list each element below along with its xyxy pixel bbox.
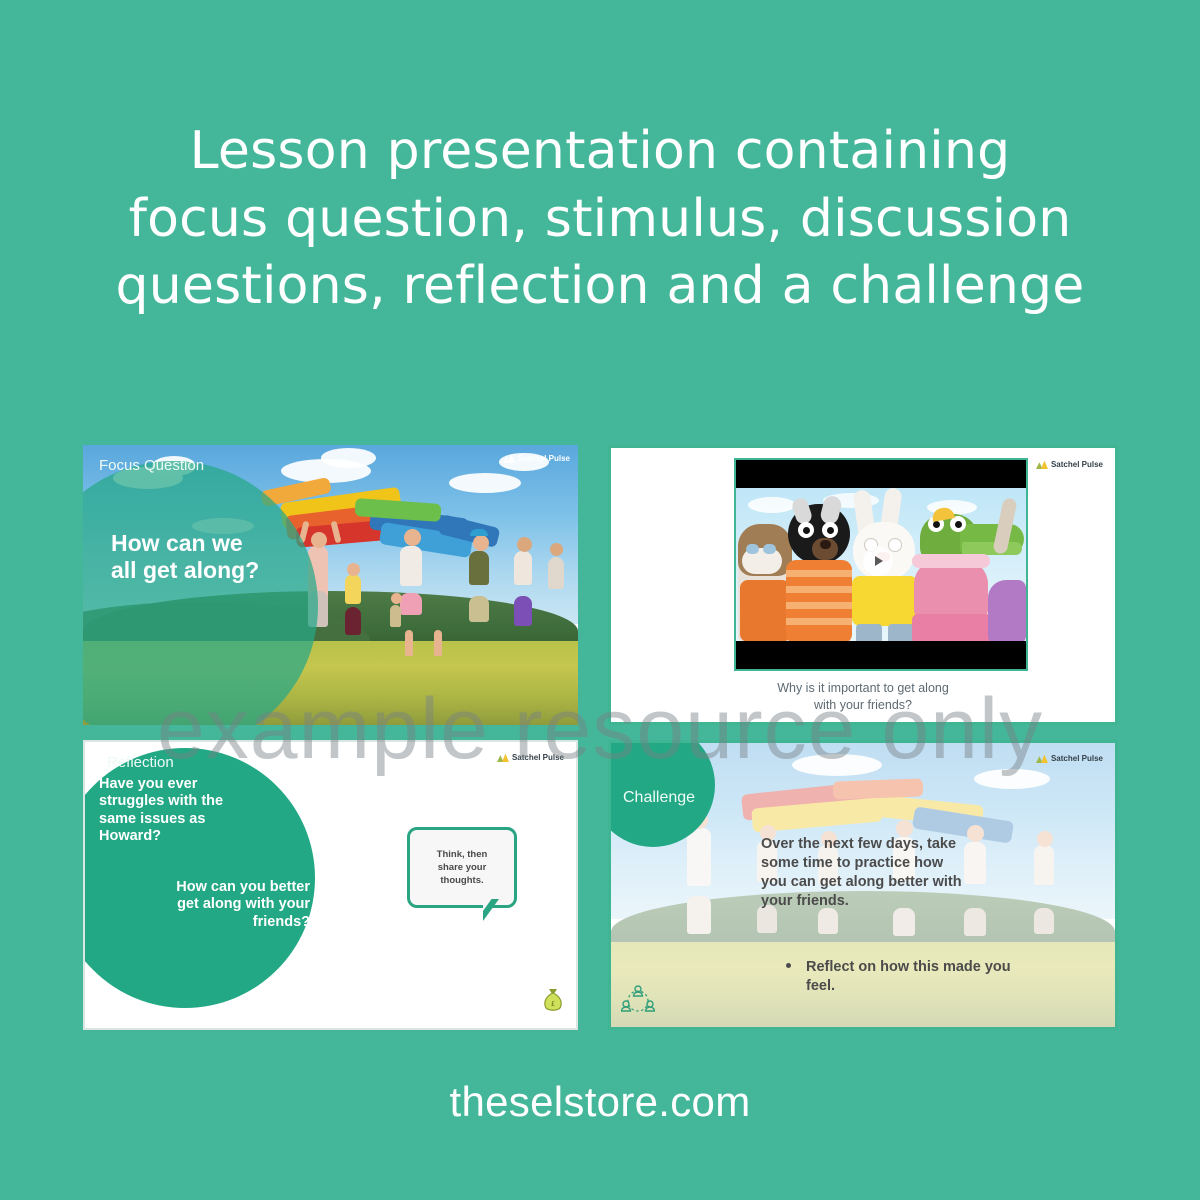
reflection-question-1-line-2: struggles with the xyxy=(99,793,223,809)
brand-logo-slide-1: Satchel Pulse xyxy=(503,454,570,463)
page-title: Lesson presentation containing focus que… xyxy=(0,118,1200,321)
page-title-line-2: focus question, stimulus, discussion xyxy=(0,186,1200,254)
brand-logo-slide-2: Satchel Pulse xyxy=(1036,460,1103,469)
slide-thumbnail-challenge[interactable]: Challenge Over the next few days, take s… xyxy=(608,740,1118,1030)
slide-thumbnail-focus-question[interactable]: Focus Question How can we all get along?… xyxy=(83,445,578,725)
challenge-body-line-1: Over the next few days, take xyxy=(761,836,956,852)
reflection-question-1: Have you ever struggles with the same is… xyxy=(99,776,304,846)
challenge-body-line-4: your friends. xyxy=(761,893,849,909)
challenge-body-line-2: some time to practice how xyxy=(761,855,943,871)
page-title-line-3: questions, reflection and a challenge xyxy=(0,253,1200,321)
mountain-logo-icon xyxy=(1036,754,1048,763)
footer-url: theselstore.com xyxy=(0,1078,1200,1126)
reflection-question-2-line-3: friends? xyxy=(253,914,310,930)
bullet-dot-icon xyxy=(786,963,791,968)
reflection-question-1-line-4: Howard? xyxy=(99,828,161,844)
reflection-question-1-line-3: same issues as xyxy=(99,811,205,827)
bubble-line-1: Think, then xyxy=(437,849,488,860)
mountain-logo-icon xyxy=(503,454,515,463)
brand-logo-slide-3: Satchel Pulse xyxy=(497,753,564,762)
think-share-bubble: Think, then share your thoughts. xyxy=(407,827,517,908)
stimulus-caption-line-2: with your friends? xyxy=(814,698,912,712)
mountain-logo-icon xyxy=(497,753,509,762)
mountain-logo-icon xyxy=(1036,460,1048,469)
promo-image-root: { "theme": { "background": "#44b79a", "a… xyxy=(0,0,1200,1200)
brand-logo-slide-4: Satchel Pulse xyxy=(1036,754,1103,763)
focus-question-heading-line-2: all get along? xyxy=(111,557,259,583)
stimulus-caption-line-1: Why is it important to get along xyxy=(777,681,949,695)
stimulus-caption: Why is it important to get along with yo… xyxy=(611,680,1115,714)
bubble-line-2: share your xyxy=(438,862,487,873)
challenge-body: Over the next few days, take some time t… xyxy=(761,835,1101,912)
challenge-bullet-1-line-2: feel. xyxy=(806,978,835,994)
brand-logo-label-slide-1: Satchel Pulse xyxy=(518,454,570,463)
slide-thumbnail-reflection[interactable]: Reflection Have you ever struggles with … xyxy=(83,740,578,1030)
money-bag-icon: £ xyxy=(542,987,564,1018)
reflection-question-1-line-1: Have you ever xyxy=(99,776,197,792)
page-title-line-1: Lesson presentation containing xyxy=(0,118,1200,186)
challenge-body-line-3: you can get along better with xyxy=(761,874,962,890)
slide-label-challenge: Challenge xyxy=(623,789,695,807)
challenge-bullet-1-line-1: Reflect on how this made you xyxy=(806,959,1011,975)
bubble-line-3: thoughts. xyxy=(440,875,483,886)
slide-thumbnail-grid: Focus Question How can we all get along?… xyxy=(83,445,1118,1030)
video-thumbnail[interactable] xyxy=(734,458,1028,671)
svg-text:£: £ xyxy=(551,1000,555,1008)
slide-thumbnail-stimulus[interactable]: Satchel Pulse xyxy=(608,445,1118,725)
play-button-icon[interactable] xyxy=(863,546,893,576)
brand-logo-label-slide-3: Satchel Pulse xyxy=(512,753,564,762)
slide-label-reflection: Reflection xyxy=(107,754,174,771)
reflection-question-2-line-2: get along with your xyxy=(177,896,310,912)
reflection-question-2-line-1: How can you better xyxy=(176,879,310,895)
brand-logo-label-slide-4: Satchel Pulse xyxy=(1051,754,1103,763)
focus-question-heading: How can we all get along? xyxy=(111,530,321,584)
brand-logo-label-slide-2: Satchel Pulse xyxy=(1051,460,1103,469)
bubble-tail-inner xyxy=(483,897,493,911)
focus-question-heading-line-1: How can we xyxy=(111,530,243,556)
challenge-bullet-1: Reflect on how this made you feel. xyxy=(786,958,1118,996)
slide-label-focus-question: Focus Question xyxy=(99,457,204,474)
reflection-question-2: How can you better get along with your f… xyxy=(105,879,310,931)
people-group-icon xyxy=(621,982,655,1019)
